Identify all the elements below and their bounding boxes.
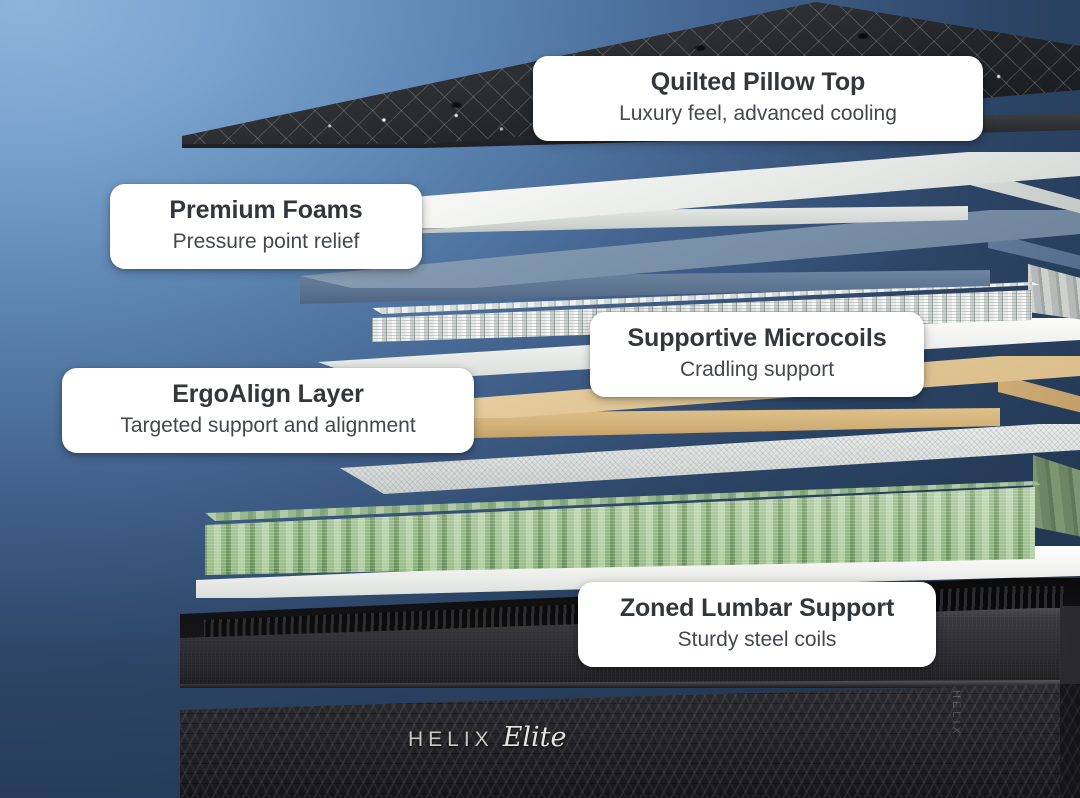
callout-title: Supportive Microcoils (627, 323, 886, 354)
callout-title: ErgoAlign Layer (172, 379, 364, 410)
base-side-panel (1060, 684, 1080, 798)
callout-card-premium-foams[interactable]: Premium Foams Pressure point relief (110, 184, 422, 269)
green-coils-side-face (1033, 455, 1080, 559)
base-side-rail (1060, 606, 1080, 688)
callout-title: Premium Foams (169, 195, 362, 226)
callout-title: Quilted Pillow Top (651, 67, 865, 98)
base-weave-texture (180, 684, 1080, 798)
callout-card-zoned-lumbar-support[interactable]: Zoned Lumbar Support Sturdy steel coils (578, 582, 936, 667)
callout-card-supportive-microcoils[interactable]: Supportive Microcoils Cradling support (590, 312, 924, 397)
callout-card-ergoalign-layer[interactable]: ErgoAlign Layer Targeted support and ali… (62, 368, 474, 453)
callout-subtitle: Pressure point relief (173, 228, 360, 255)
callout-subtitle: Targeted support and alignment (120, 412, 415, 439)
base-side-weave-texture (1060, 684, 1080, 798)
mattress-cutaway-illustration: HELIX HELIX Elite (0, 0, 1080, 798)
callout-subtitle: Luxury feel, advanced cooling (619, 100, 897, 127)
ergoalign-side-face (998, 374, 1080, 450)
base-fabric-panel (180, 684, 1080, 798)
side-panel-brand-label: HELIX (950, 690, 962, 737)
callout-title: Zoned Lumbar Support (620, 593, 894, 624)
callout-card-quilted-pillow-top[interactable]: Quilted Pillow Top Luxury feel, advanced… (533, 56, 983, 141)
callout-subtitle: Sturdy steel coils (678, 626, 837, 653)
callout-subtitle: Cradling support (680, 356, 834, 383)
